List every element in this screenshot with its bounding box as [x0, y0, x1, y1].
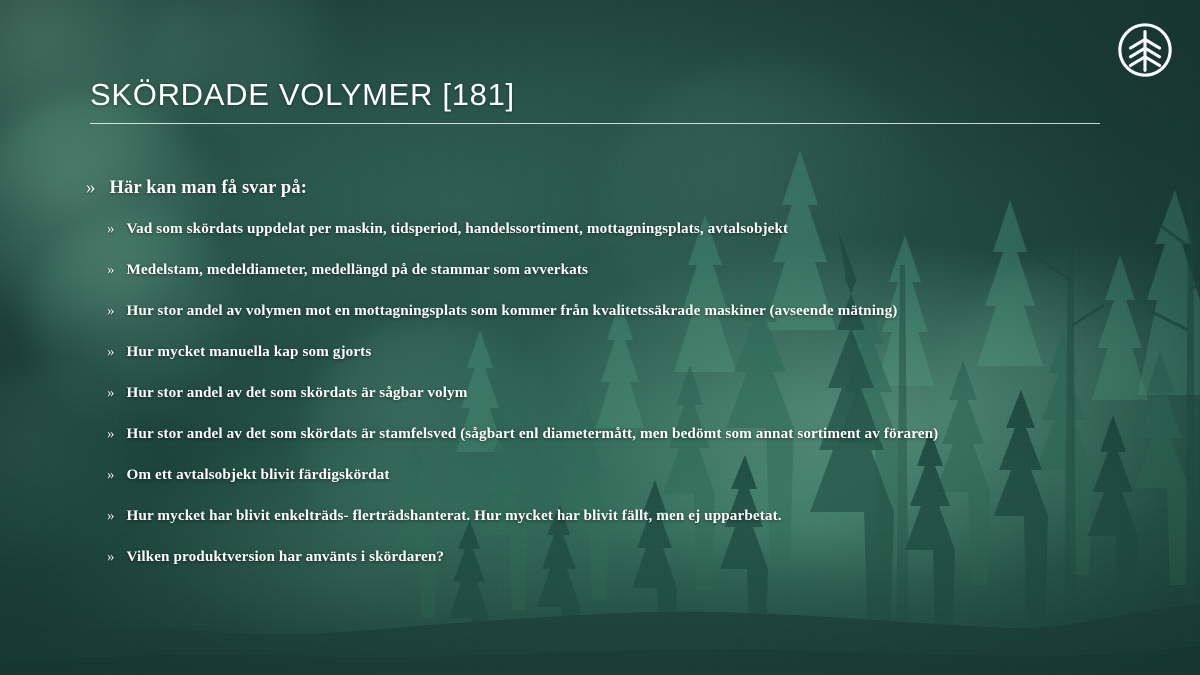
list-item-label: Medelstam, medeldiameter, medellängd på … — [127, 261, 589, 279]
list-item-label: Hur stor andel av det som skördats är så… — [127, 384, 468, 402]
list-item-label: Om ett avtalsobjekt blivit färdigskördat — [127, 466, 390, 484]
bullet-marker-icon: » — [107, 304, 115, 319]
list-item: » Hur mycket manuella kap som gjorts — [107, 343, 1160, 384]
list-item: » Hur stor andel av det som skördats är … — [107, 425, 1160, 466]
list-item-label: Vad som skördats uppdelat per maskin, ti… — [127, 220, 789, 238]
bullet-marker-icon: » — [107, 509, 115, 524]
bullet-marker-icon: » — [107, 386, 115, 401]
presentation-slide: SKÖRDADE VOLYMER [181] » Här kan man få … — [0, 0, 1200, 675]
title-underline-rule — [90, 123, 1100, 124]
circle-tree-logo-icon — [1116, 21, 1174, 79]
lead-bullet-label: Här kan man få svar på: — [110, 178, 308, 199]
list-item: » Medelstam, medeldiameter, medellängd p… — [107, 261, 1160, 302]
list-item-label: Hur stor andel av det som skördats är st… — [127, 425, 939, 443]
title-block: SKÖRDADE VOLYMER [181] — [90, 78, 1102, 124]
list-item-label: Vilken produktversion har använts i skör… — [127, 548, 445, 566]
lead-bullet: » Här kan man få svar på: — [86, 178, 1160, 199]
bullet-marker-icon: » — [107, 222, 115, 237]
page-title: SKÖRDADE VOLYMER [181] — [90, 78, 1102, 112]
list-item: » Vad som skördats uppdelat per maskin, … — [107, 220, 1160, 261]
bullet-marker-icon: » — [107, 427, 115, 442]
bullet-marker-icon: » — [107, 263, 115, 278]
list-item: » Hur stor andel av volymen mot en motta… — [107, 302, 1160, 343]
list-item-label: Hur stor andel av volymen mot en mottagn… — [127, 302, 898, 320]
body-content: » Här kan man få svar på: » Vad som skör… — [86, 178, 1160, 589]
list-item: » Om ett avtalsobjekt blivit färdigskörd… — [107, 466, 1160, 507]
slide-content: SKÖRDADE VOLYMER [181] » Här kan man få … — [0, 0, 1200, 675]
list-item-label: Hur mycket manuella kap som gjorts — [127, 343, 372, 361]
list-item: » Vilken produktversion har använts i sk… — [107, 548, 1160, 589]
list-item: » Hur stor andel av det som skördats är … — [107, 384, 1160, 425]
list-item: » Hur mycket har blivit enkelträds- fler… — [107, 507, 1160, 548]
bullet-marker-icon: » — [107, 468, 115, 483]
bullet-list: » Vad som skördats uppdelat per maskin, … — [107, 220, 1160, 589]
list-item-label: Hur mycket har blivit enkelträds- flertr… — [127, 507, 782, 525]
lead-bullet-marker-icon: » — [86, 178, 96, 197]
bullet-marker-icon: » — [107, 550, 115, 565]
bullet-marker-icon: » — [107, 345, 115, 360]
